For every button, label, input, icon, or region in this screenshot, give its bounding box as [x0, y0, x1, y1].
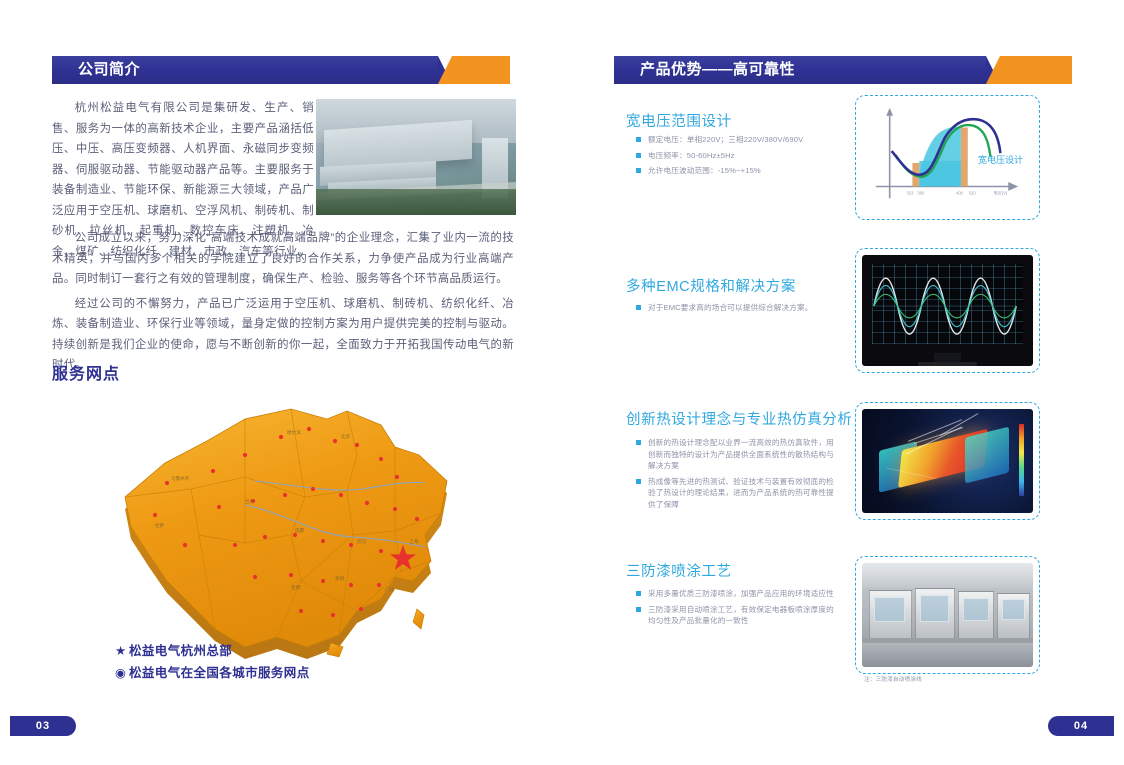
feature-1-bullets: 额定电压：单相220V；三相220V/380V/690V 电压频率：50-60H…: [636, 134, 826, 181]
photo-ceiling: [862, 563, 1033, 588]
monitor-stand-base: [918, 362, 976, 366]
feature-4-bullet-1: 采用多量优质三防漆喷涂，加强产品应用的环境适应性: [636, 588, 834, 600]
banner-orange-bar-right: [1000, 56, 1072, 84]
right-banner-title: 产品优势——高可靠性: [640, 56, 795, 84]
conveyor-rail: [862, 638, 1033, 643]
feature-1-bullet-2: 电压频率：50-60Hz±5Hz: [636, 150, 826, 162]
feature-4-figure-box: 注：三防漆自动喷涂线: [855, 556, 1040, 674]
feature-4-bullets: 采用多量优质三防漆喷涂，加强产品应用的环境适应性 三防漆采用自动喷涂工艺，有效保…: [636, 588, 834, 631]
feature-4-bullet-2: 三防漆采用自动喷涂工艺，有效保定电器板喷涂厚度的均匀性及产品批量化的一致性: [636, 604, 834, 627]
brochure-spread: 公司简介 杭州松益电气有限公司是集研发、生产、销售、服务为一体的高新技术企业，主…: [0, 0, 1124, 765]
svg-text:广州: 广州: [385, 586, 395, 593]
coating-line-photo: [862, 563, 1033, 667]
feature-2-heading: 多种EMC规格和解决方案: [626, 275, 796, 296]
feature-3-bullets: 创新的热设计理念配以业界一流高效的热仿真软件，用创新而独特的设计为产品提供全面系…: [636, 437, 836, 514]
svg-text:上海: 上海: [409, 538, 419, 545]
right-section-banner: 产品优势——高可靠性: [614, 56, 1072, 84]
machine-4-window: [1002, 599, 1025, 620]
hq-star-icon: ★: [115, 643, 129, 658]
machine-3-window: [963, 598, 989, 621]
map-island-taiwan: [413, 609, 424, 629]
cfd-right-enclosure: [965, 426, 1009, 483]
feature-2-bullets: 对于EMC要求高的场合可以提供综合解决方案。: [636, 302, 831, 318]
feature-1-figure-box: 323 380 400 520 电压(V) 宽电压设计: [855, 95, 1040, 220]
branch-dot-icon: ◉: [115, 665, 129, 680]
svg-text:323: 323: [906, 190, 914, 195]
feature-3-bullet-1: 创新的热设计理念配以业界一流高效的热仿真软件，用创新而独特的设计为产品提供全面系…: [636, 437, 836, 472]
svg-text:400: 400: [956, 190, 964, 195]
feature-1-bullet-1: 额定电压：单相220V；三相220V/380V/690V: [636, 134, 826, 146]
map-landmass: [125, 409, 447, 647]
intro-paragraph-3: 经过公司的不懈努力，产品已广泛运用于空压机、球磨机、制砖机、纺织化纤、冶炼、装备…: [52, 294, 514, 376]
service-network-heading: 服务网点: [52, 360, 120, 384]
svg-text:武汉: 武汉: [357, 538, 367, 545]
wide-voltage-chart: 323 380 400 520 电压(V) 宽电压设计: [862, 102, 1033, 213]
page-number-right: 04: [1048, 716, 1114, 736]
hq-legend-label: 松益电气杭州总部: [129, 644, 232, 658]
feature-4-heading: 三防漆喷涂工艺: [626, 560, 732, 581]
feature-4-figure-caption: 注：三防漆自动喷涂线: [864, 675, 922, 683]
svg-text:乌鲁木齐: 乌鲁木齐: [171, 475, 190, 482]
thermal-simulation-image: [862, 409, 1033, 513]
svg-text:兰州: 兰州: [245, 498, 255, 504]
machine-1-window: [874, 597, 905, 622]
svg-text:哈尔滨: 哈尔滨: [287, 429, 301, 436]
feature-3-figure-box: [855, 402, 1040, 520]
branch-legend-label: 松益电气在全国各城市服务网点: [129, 666, 310, 680]
emc-waveform-monitor: [862, 255, 1033, 366]
feature-2-bullet-1: 对于EMC要求高的场合可以提供综合解决方案。: [636, 302, 831, 314]
svg-text:520: 520: [969, 190, 977, 195]
svg-text:380: 380: [917, 190, 925, 195]
feature-3-heading: 创新热设计理念与专业热仿真分析: [626, 408, 853, 429]
left-section-banner: 公司简介: [52, 56, 510, 84]
right-page: 产品优势——高可靠性 宽电压范围设计 额定电压：单相220V；三相220V/38…: [562, 0, 1124, 765]
left-banner-title: 公司简介: [78, 56, 140, 84]
banner-orange-bar: [452, 56, 510, 84]
machine-2-window: [920, 595, 949, 622]
svg-text:成都: 成都: [295, 527, 305, 534]
svg-text:电压(V): 电压(V): [993, 189, 1007, 195]
map-legend-branches: ◉松益电气在全国各城市服务网点: [115, 662, 310, 681]
feature-3-bullet-2: 热成像等先进的热测试、验证技术与装置有效彻底的检验了热设计的理论结果，进而为产品…: [636, 476, 836, 511]
factory-photo: [316, 99, 516, 215]
left-page: 公司简介 杭州松益电气有限公司是集研发、生产、销售、服务为一体的高新技术企业，主…: [0, 0, 562, 765]
page-number-left: 03: [10, 716, 76, 736]
wide-voltage-chart-label: 宽电压设计: [978, 153, 1023, 166]
intro-paragraph-rest: 公司成立以来，努力深化“高端技术成就高端品牌”的企业理念，汇集了业内一流的技术精…: [52, 228, 514, 380]
feature-1-bullet-3: 允许电压波动范围：-15%~+15%: [636, 165, 826, 177]
feature-2-figure-box: [855, 248, 1040, 373]
svg-text:北京: 北京: [341, 433, 351, 440]
svg-text:拉萨: 拉萨: [155, 522, 165, 529]
photo-trees: [316, 189, 516, 215]
svg-text:贵阳: 贵阳: [335, 575, 345, 582]
photo-floor: [862, 640, 1033, 667]
map-legend-hq: ★松益电气杭州总部: [115, 640, 232, 659]
emc-waveform-svg: [862, 255, 1033, 366]
cfd-colour-scale: [1019, 424, 1024, 497]
feature-1-heading: 宽电压范围设计: [626, 110, 732, 131]
intro-paragraph-2: 公司成立以来，努力深化“高端技术成就高端品牌”的企业理念，汇集了业内一流的技术精…: [52, 228, 514, 290]
